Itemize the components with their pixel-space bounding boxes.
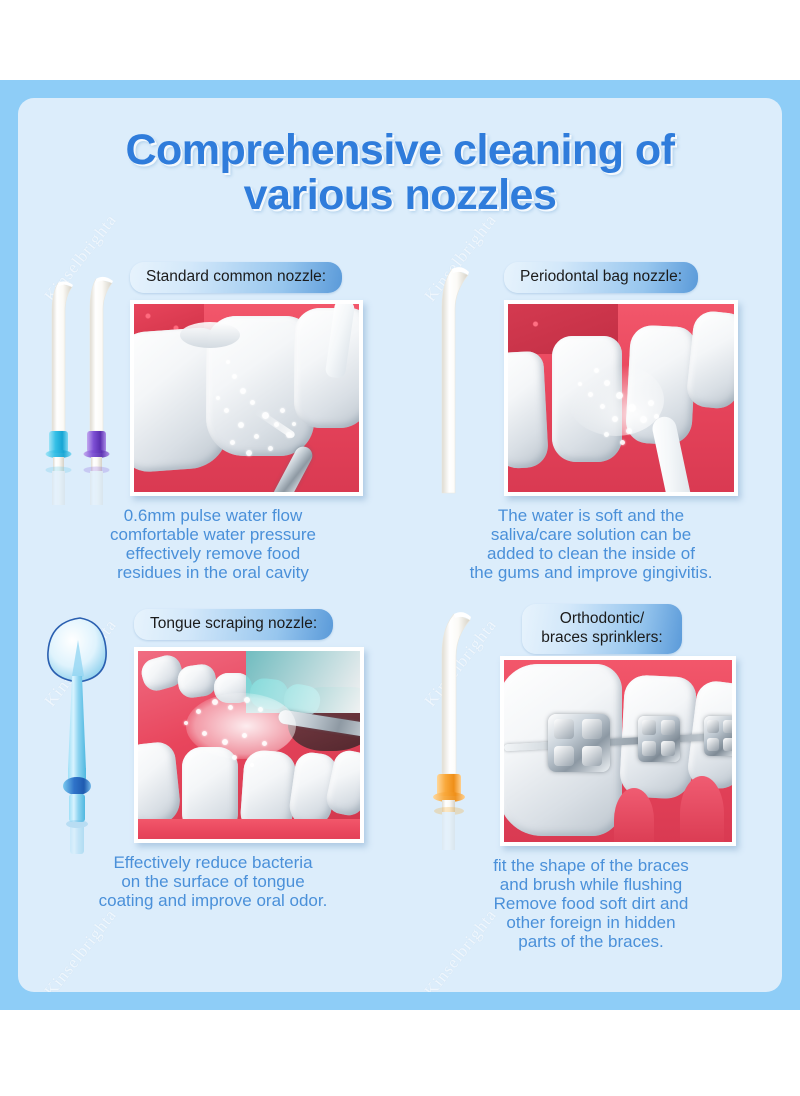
label-orthodontic-braces-sprinklers: Orthodontic/ braces sprinklers: <box>522 604 682 654</box>
caption-line: added to clean the inside of <box>404 544 778 563</box>
nozzle-svg <box>32 271 136 521</box>
standard-nozzle-pair-icon <box>32 271 136 521</box>
caption-line: parts of the braces. <box>404 932 778 951</box>
label-line-1: Orthodontic/ <box>538 610 666 629</box>
gum-papilla-2 <box>680 776 724 842</box>
dental-scene-front-teeth <box>508 304 734 492</box>
caption-line: coating and improve oral odor. <box>26 891 400 910</box>
feature-periodontal-bag-nozzle: Periodontal bag nozzle: <box>404 263 778 603</box>
caption-orthodontic-braces-sprinklers: fit the shape of the braces and brush wh… <box>404 856 778 951</box>
caption-line: the gums and improve gingivitis. <box>404 563 778 582</box>
orthodontic-nozzle-icon <box>406 606 506 866</box>
caption-line: and brush while flushing <box>404 875 778 894</box>
tongue-scraper-nozzle-icon <box>34 610 134 860</box>
nozzle-svg <box>34 610 134 860</box>
nozzle-svg <box>406 606 506 866</box>
caption-line: on the surface of tongue <box>26 872 400 891</box>
page-title: Comprehensive cleaning of various nozzle… <box>18 128 782 218</box>
label-standard-common-nozzle: Standard common nozzle: <box>130 262 342 293</box>
caption-line: fit the shape of the braces <box>404 856 778 875</box>
tooth-incisor-1 <box>508 351 549 470</box>
bracket-2 <box>638 716 680 762</box>
label-line-2: braces sprinklers: <box>538 629 666 648</box>
content-panel: Kinselbrighta Kinselbrighta Kinselbright… <box>18 98 782 992</box>
caption-line: effectively remove food <box>26 544 400 563</box>
title-line-1: Comprehensive cleaning of <box>125 126 674 174</box>
dental-scene-braces <box>504 660 732 842</box>
caption-tongue-scraping-nozzle: Effectively reduce bacteria on the surfa… <box>26 853 400 910</box>
caption-line: other foreign in hidden <box>404 913 778 932</box>
caption-line: residues in the oral cavity <box>26 563 400 582</box>
photo-braces-brackets-archwire <box>500 656 736 846</box>
feature-orthodontic-braces-sprinklers: Orthodontic/ braces sprinklers: <box>404 610 778 970</box>
feature-standard-common-nozzle: Standard common nozzle: <box>26 263 400 603</box>
blue-frame-border: Kinselbrighta Kinselbrighta Kinselbright… <box>0 80 800 1010</box>
dental-scene-tongue <box>138 651 360 839</box>
caption-line: Effectively reduce bacteria <box>26 853 400 872</box>
caption-line: saliva/care solution can be <box>404 525 778 544</box>
feature-tongue-scraping-nozzle: Tongue scraping nozzle: <box>26 610 400 970</box>
bracket-1 <box>548 714 610 772</box>
photo-molar-water-spray <box>130 300 363 496</box>
photo-tongue-surface-spray <box>134 647 364 843</box>
periodontal-nozzle-icon <box>418 263 510 523</box>
label-periodontal-bag-nozzle: Periodontal bag nozzle: <box>504 262 698 293</box>
caption-line: The water is soft and the <box>404 506 778 525</box>
gum-lower <box>138 819 360 839</box>
bracket-3 <box>704 716 732 756</box>
caption-periodontal-bag-nozzle: The water is soft and the saliva/care so… <box>404 506 778 582</box>
caption-standard-common-nozzle: 0.6mm pulse water flow comfortable water… <box>26 506 400 582</box>
dental-scene-molars <box>134 304 359 492</box>
title-line-2: various nozzles <box>18 173 782 218</box>
caption-line: 0.6mm pulse water flow <box>26 506 400 525</box>
nozzle-svg <box>418 263 510 523</box>
label-tongue-scraping-nozzle: Tongue scraping nozzle: <box>134 609 333 640</box>
caption-line: comfortable water pressure <box>26 525 400 544</box>
tooth-cusp-highlight <box>180 322 240 348</box>
photo-front-teeth-gumline-spray <box>504 300 738 496</box>
caption-line: Remove food soft dirt and <box>404 894 778 913</box>
water-spray-patch <box>186 693 296 759</box>
